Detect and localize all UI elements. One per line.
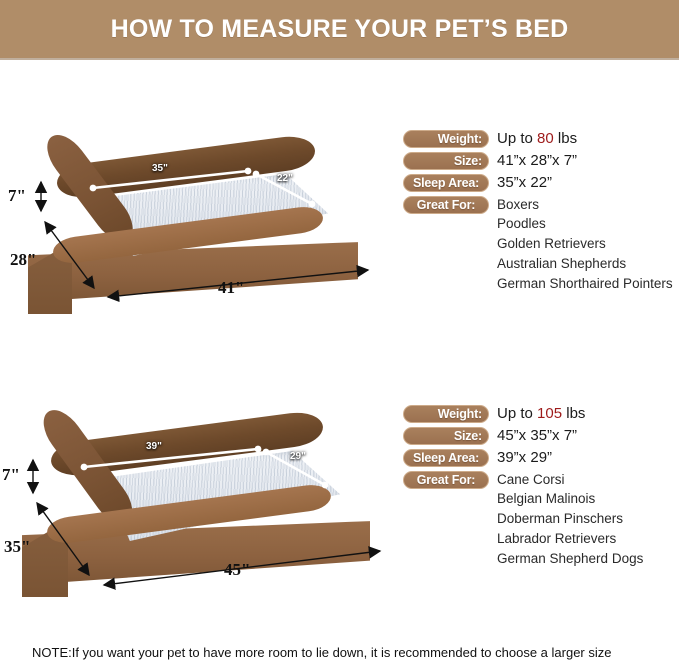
spec-label-sleep-area: Sleep Area: — [403, 174, 489, 192]
list-item: German Shorthaired Pointers — [497, 274, 673, 294]
weight-number: 105 — [537, 405, 562, 422]
spec-panel-large: Weight: Up to 80 lbs Size: 41”x 28”x 7” … — [403, 130, 679, 218]
spec-label-weight: Weight: — [403, 130, 489, 148]
sleep-length-label: 39" — [146, 441, 162, 452]
spec-value-size: 45”x 35”x 7” — [497, 427, 577, 445]
sleep-width-label: 29" — [290, 451, 306, 462]
weight-unit: lbs — [558, 130, 577, 147]
product-block-large: 7" 28" 41" 35" 22" Weight: Up to 80 lbs … — [0, 130, 679, 330]
spec-row-sleep-area: Sleep Area: 35”x 22” — [403, 174, 679, 196]
breed-list: Cane Corsi Belgian Malinois Doberman Pin… — [497, 471, 643, 569]
list-item: Cane Corsi — [497, 471, 643, 489]
dimension-annotations — [0, 130, 400, 330]
footer-note: NOTE:If you want your pet to have more r… — [32, 645, 662, 660]
dimension-depth-label: 35" — [4, 537, 30, 557]
page-header-banner: HOW TO MEASURE YOUR PET’S BED — [0, 0, 679, 58]
list-item: Boxers — [497, 196, 673, 214]
spec-label-great-for: Great For: — [403, 196, 489, 214]
spec-label-size: Size: — [403, 427, 489, 445]
bed-illustration-large: 7" 28" 41" 35" 22" — [0, 130, 400, 330]
weight-unit: lbs — [566, 405, 585, 422]
weight-prefix: Up to — [497, 130, 533, 147]
spec-row-weight: Weight: Up to 105 lbs — [403, 405, 679, 427]
dimension-height-label: 7" — [8, 186, 26, 206]
list-item: Poodles — [497, 214, 673, 234]
bed-illustration-xlarge: 7" 35" 45" 39" 29" — [0, 405, 400, 605]
spec-row-weight: Weight: Up to 80 lbs — [403, 130, 679, 152]
spec-value-weight: Up to 105 lbs — [497, 405, 585, 423]
spec-row-size: Size: 45”x 35”x 7” — [403, 427, 679, 449]
list-item: German Shepherd Dogs — [497, 549, 643, 569]
list-item: Australian Shepherds — [497, 254, 673, 274]
spec-label-great-for: Great For: — [403, 471, 489, 489]
list-item: Golden Retrievers — [497, 234, 673, 254]
dimension-annotations — [0, 405, 400, 605]
spec-row-great-for: Great For: Cane Corsi Belgian Malinois D… — [403, 471, 679, 493]
spec-label-weight: Weight: — [403, 405, 489, 423]
banner-underline — [0, 58, 679, 60]
list-item: Doberman Pinschers — [497, 509, 643, 529]
breed-list: Boxers Poodles Golden Retrievers Austral… — [497, 196, 673, 294]
dimension-height-label: 7" — [2, 465, 20, 485]
spec-label-sleep-area: Sleep Area: — [403, 449, 489, 467]
spec-label-size: Size: — [403, 152, 489, 170]
spec-panel-xlarge: Weight: Up to 105 lbs Size: 45”x 35”x 7”… — [403, 405, 679, 493]
dimension-width-label: 45" — [224, 560, 250, 580]
spec-value-sleep-area: 39”x 29” — [497, 449, 552, 467]
spec-row-size: Size: 41”x 28”x 7” — [403, 152, 679, 174]
sleep-length-label: 35" — [152, 163, 168, 174]
list-item: Belgian Malinois — [497, 489, 643, 509]
spec-row-great-for: Great For: Boxers Poodles Golden Retriev… — [403, 196, 679, 218]
sleep-width-label: 22" — [277, 173, 293, 184]
spec-value-sleep-area: 35”x 22” — [497, 174, 552, 192]
dimension-width-label: 41" — [218, 278, 244, 298]
spec-value-size: 41”x 28”x 7” — [497, 152, 577, 170]
weight-number: 80 — [537, 130, 554, 147]
product-block-xlarge: 7" 35" 45" 39" 29" Weight: Up to 105 lbs… — [0, 405, 679, 610]
spec-value-weight: Up to 80 lbs — [497, 130, 577, 148]
page-title: HOW TO MEASURE YOUR PET’S BED — [111, 15, 569, 44]
spec-row-sleep-area: Sleep Area: 39”x 29” — [403, 449, 679, 471]
weight-prefix: Up to — [497, 405, 533, 422]
list-item: Labrador Retrievers — [497, 529, 643, 549]
dimension-depth-label: 28" — [10, 250, 36, 270]
